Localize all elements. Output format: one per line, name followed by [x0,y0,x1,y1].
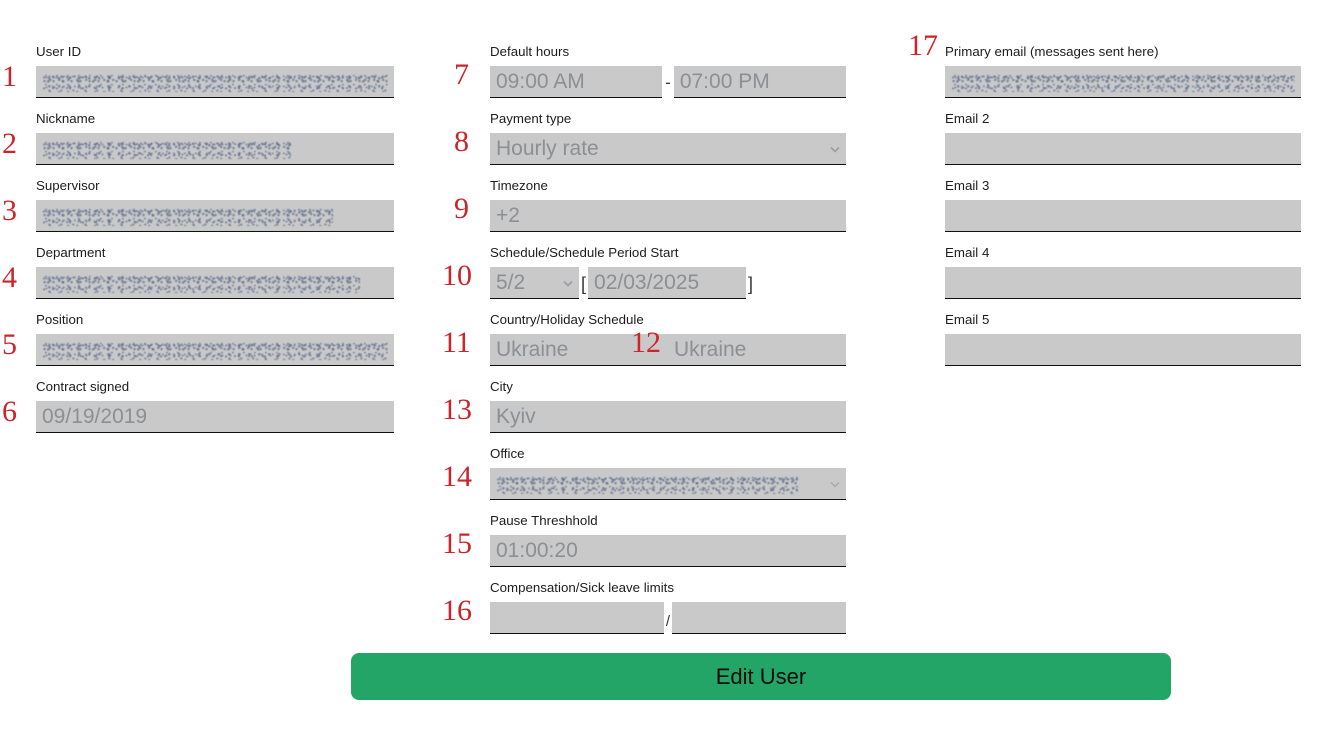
field-label-user-id: User ID [36,44,394,60]
redacted-value-user-id [42,69,388,95]
left-column: User ID 1 Nickname 2 Supervisor 3 Depart… [36,44,394,446]
field-department: Department 4 [36,245,394,299]
field-email-2: Email 2 [945,111,1301,165]
field-office: Office 14 [490,446,846,500]
redacted-value-primary-email [951,69,1295,95]
schedule-period-start-input[interactable]: 02/03/2025 [588,267,746,299]
holiday-schedule-input[interactable]: Ukraine [668,334,846,366]
email-2-input[interactable] [945,133,1301,165]
field-payment-type: Payment type 8 Hourly rate [490,111,846,165]
step-marker-17: 17 [908,31,938,61]
field-label-email-3: Email 3 [945,178,1301,194]
schedule-value: 5/2 [496,271,525,295]
contract-signed-date-input[interactable]: 09/19/2019 [36,401,394,433]
step-marker-1: 1 [2,62,17,92]
chevron-down-icon [830,144,839,153]
department-input[interactable] [36,267,394,299]
field-pause-threshold: Pause Threshhold 15 01:00:20 [490,513,846,567]
field-position: Position 5 [36,312,394,366]
position-input[interactable] [36,334,394,366]
field-label-timezone: Timezone [490,178,846,194]
field-supervisor: Supervisor 3 [36,178,394,232]
field-label-office: Office [490,446,846,462]
primary-email-input[interactable] [945,66,1301,98]
field-user-id: User ID 1 [36,44,394,98]
email-5-input[interactable] [945,334,1301,366]
field-label-supervisor: Supervisor [36,178,394,194]
field-label-email-4: Email 4 [945,245,1301,261]
redacted-value-supervisor [42,203,388,229]
step-marker-4: 4 [2,263,17,293]
field-label-payment-type: Payment type [490,111,846,127]
step-marker-14: 14 [442,462,472,492]
compensation-separator: / [664,614,672,634]
step-marker-6: 6 [2,397,17,427]
user-id-input[interactable] [36,66,394,98]
default-hours-from-input[interactable]: 09:00 AM [490,66,662,98]
field-label-default-hours: Default hours [490,44,846,60]
bracket-close: ] [746,275,755,299]
bracket-open: [ [579,275,588,299]
step-marker-7: 7 [454,60,469,90]
middle-column: Default hours 7 09:00 AM - 07:00 PM Paym… [490,44,846,647]
field-label-department: Department [36,245,394,261]
step-marker-2: 2 [2,129,17,159]
redacted-value-nickname [42,136,388,162]
field-label-pause-threshold: Pause Threshhold [490,513,846,529]
field-timezone: Timezone 9 +2 [490,178,846,232]
email-4-input[interactable] [945,267,1301,299]
city-input[interactable]: Kyiv [490,401,846,433]
chevron-down-icon [830,479,839,488]
field-label-position: Position [36,312,394,328]
field-contract-signed: Contract signed 6 09/19/2019 [36,379,394,433]
chevron-down-icon [563,278,572,287]
field-country-holiday: Country/Holiday Schedule 11 12 Ukraine U… [490,312,846,366]
schedule-select[interactable]: 5/2 [490,267,579,299]
timezone-input[interactable]: +2 [490,200,846,232]
redacted-value-department [42,270,388,296]
field-label-compensation-sick-leave: Compensation/Sick leave limits [490,580,846,596]
step-marker-16: 16 [442,596,472,626]
field-label-primary-email: Primary email (messages sent here) [945,44,1301,60]
step-marker-13: 13 [442,395,472,425]
edit-user-form-page: User ID 1 Nickname 2 Supervisor 3 Depart… [0,0,1338,740]
default-hours-to-input[interactable]: 07:00 PM [674,66,846,98]
field-schedule: Schedule/Schedule Period Start 10 5/2 [ … [490,245,846,299]
field-label-city: City [490,379,846,395]
redacted-value-office [496,471,824,497]
edit-user-button[interactable]: Edit User [351,653,1171,700]
email-3-input[interactable] [945,200,1301,232]
field-city: City 13 Kyiv [490,379,846,433]
step-marker-3: 3 [2,196,17,226]
step-marker-15: 15 [442,529,472,559]
field-email-5: Email 5 [945,312,1301,366]
field-nickname: Nickname 2 [36,111,394,165]
field-email-4: Email 4 [945,245,1301,299]
field-primary-email: Primary email (messages sent here) 17 [945,44,1301,98]
sick-leave-limit-input[interactable] [672,602,846,634]
payment-type-select[interactable]: Hourly rate [490,133,846,165]
pause-threshold-input[interactable]: 01:00:20 [490,535,846,567]
step-marker-12: 12 [631,328,661,358]
step-marker-11: 11 [442,328,471,358]
step-marker-8: 8 [454,127,469,157]
redacted-value-position [42,337,388,363]
field-label-email-2: Email 2 [945,111,1301,127]
submit-area: Edit User [351,653,1171,700]
step-marker-10: 10 [442,261,472,291]
field-email-3: Email 3 [945,178,1301,232]
right-column: Primary email (messages sent here) 17 Em… [945,44,1301,379]
field-label-schedule: Schedule/Schedule Period Start [490,245,846,261]
step-marker-9: 9 [454,194,469,224]
field-label-email-5: Email 5 [945,312,1301,328]
field-label-country-holiday: Country/Holiday Schedule [490,312,846,328]
nickname-input[interactable] [36,133,394,165]
default-hours-separator: - [662,74,674,98]
payment-type-value: Hourly rate [496,137,599,161]
field-compensation-sick-leave: Compensation/Sick leave limits 16 / [490,580,846,634]
compensation-limit-input[interactable] [490,602,664,634]
supervisor-input[interactable] [36,200,394,232]
field-label-contract-signed: Contract signed [36,379,394,395]
step-marker-5: 5 [2,330,17,360]
field-default-hours: Default hours 7 09:00 AM - 07:00 PM [490,44,846,98]
office-select[interactable] [490,468,846,500]
field-label-nickname: Nickname [36,111,394,127]
